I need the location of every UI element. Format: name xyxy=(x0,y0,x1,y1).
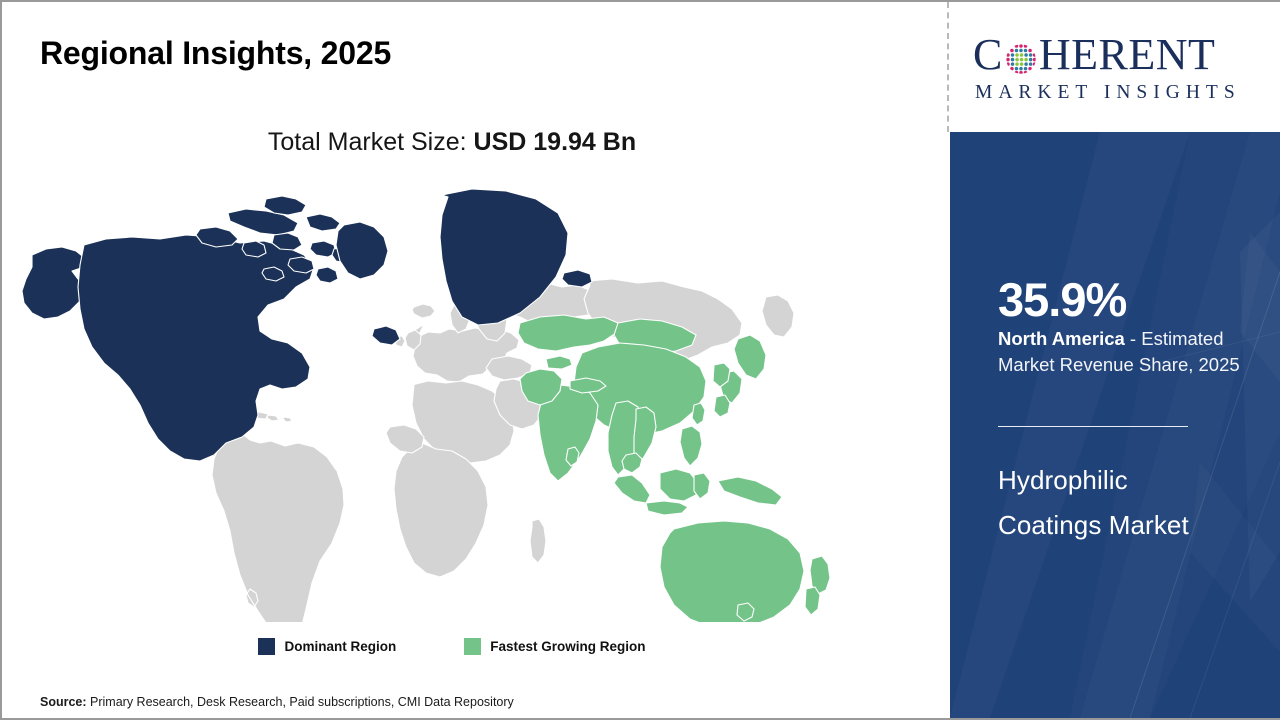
legend-label-fastest-growing-region: Fastest Growing Region xyxy=(490,639,645,654)
source-text: Primary Research, Desk Research, Paid su… xyxy=(87,695,514,709)
stat-description: North America - Estimated Market Revenue… xyxy=(998,326,1260,379)
logo-container: C xyxy=(950,2,1280,132)
legend-item-dominant-region: Dominant Region xyxy=(258,638,396,655)
total-market-size: Total Market Size: USD 19.94 Bn xyxy=(2,128,902,157)
panel-divider xyxy=(998,426,1188,427)
coherent-market-insights-logo: C xyxy=(969,31,1261,104)
total-market-size-label: Total Market Size: xyxy=(268,128,474,156)
square-swatch-icon-fastest xyxy=(464,638,481,655)
stat-panel: 35.9% North America - Estimated Market R… xyxy=(950,132,1280,718)
logo-word-part-1: C xyxy=(973,33,1003,77)
source-note: Source: Primary Research, Desk Research,… xyxy=(40,695,514,709)
logo-wordmark: C xyxy=(973,31,1261,79)
stat-region-name: North America xyxy=(998,328,1125,349)
total-market-size-value: USD 19.94 Bn xyxy=(474,128,637,156)
source-label: Source: xyxy=(40,695,87,709)
page-title: Regional Insights, 2025 xyxy=(40,35,391,72)
world-map xyxy=(22,177,902,622)
stat-value: 35.9% xyxy=(998,276,1126,323)
square-swatch-icon-dominant xyxy=(258,638,275,655)
logo-word-part-2: HERENT xyxy=(1039,33,1216,77)
infographic-page: Regional Insights, 2025 Total Market Siz… xyxy=(0,0,1280,720)
map-legend: Dominant Region Fastest Growing Region xyxy=(2,638,902,655)
logo-subtitle: MARKET INSIGHTS xyxy=(973,82,1261,104)
vertical-dashed-divider xyxy=(947,2,949,132)
legend-item-fastest-growing-region: Fastest Growing Region xyxy=(464,638,645,655)
legend-label-dominant-region: Dominant Region xyxy=(284,639,396,654)
globe-dots-icon xyxy=(1004,40,1038,74)
world-map-container xyxy=(22,177,902,622)
left-content-pane: Regional Insights, 2025 Total Market Siz… xyxy=(2,2,949,718)
market-name: Hydrophilic Coatings Market xyxy=(998,458,1228,547)
map-region-asia-pacific xyxy=(518,315,830,622)
stat-panel-content: 35.9% North America - Estimated Market R… xyxy=(998,132,1266,718)
